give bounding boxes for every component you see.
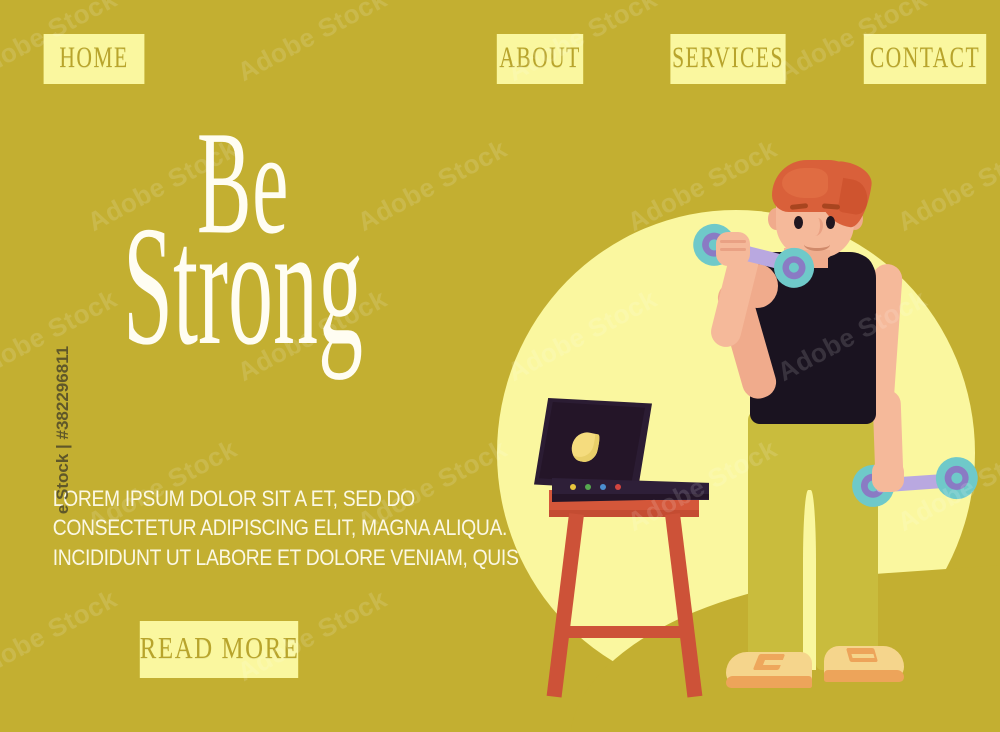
nav-item-about[interactable]: ABOUT: [497, 34, 583, 84]
indicator-dot-blue: [600, 484, 606, 490]
character-eye-right: [826, 216, 835, 229]
character-tank-strap-right: [836, 254, 874, 316]
laptop-illustration: [534, 398, 709, 506]
dumbbell-upper-disc-right: [770, 244, 818, 292]
nav-item-services[interactable]: SERVICES: [670, 34, 785, 84]
indicator-dot-green: [585, 484, 591, 490]
character-shoe-left-sole: [726, 676, 812, 688]
nav-item-home[interactable]: HOME: [44, 34, 145, 84]
character-shoe-right-sole: [824, 670, 904, 682]
stool-crossbar: [567, 626, 685, 638]
character-hair-fringe: [782, 168, 828, 198]
character-leg-gap: [803, 490, 816, 670]
character-shoe-right-stripe-2: [851, 654, 874, 658]
laptop-indicator-dots: [570, 484, 640, 492]
character-eye-left: [794, 216, 803, 229]
indicator-dot-yellow: [570, 484, 576, 490]
main-navigation: HOME ABOUT SERVICES CONTACT: [0, 0, 1000, 120]
character-leg-left: [748, 480, 806, 670]
character-hand-right: [872, 460, 904, 492]
dumbbell-lower: [850, 446, 980, 519]
character-shoe-left-stripe-2: [763, 660, 787, 665]
read-more-button[interactable]: READ MORE: [140, 621, 298, 678]
laptop-base-edge: [552, 494, 709, 502]
hero-paragraph-line-1: Lorem ipsum dolor sit a et, sed do: [53, 484, 406, 513]
hero-paragraph-line-3: incididunt ut labore et dolore veniam, q…: [53, 543, 406, 572]
stool-leg-left: [547, 513, 584, 697]
landing-page-canvas: HOME ABOUT SERVICES CONTACT Be Strong Lo…: [0, 0, 1000, 732]
character-fist-crease-2: [720, 248, 746, 251]
nav-item-contact[interactable]: CONTACT: [864, 34, 986, 84]
hero-paragraph-line-2: consectetur adipiscing elit, magna aliqu…: [53, 513, 406, 542]
indicator-dot-red: [615, 484, 621, 490]
hero-paragraph: Lorem ipsum dolor sit a et, sed do conse…: [53, 484, 406, 572]
character-illustration: [690, 160, 980, 700]
character-tank-hem: [750, 402, 876, 424]
dumbbell-lower-disc-right: [934, 456, 979, 501]
headline-line-2: Strong: [114, 214, 372, 358]
page-title: Be Strong: [28, 128, 458, 349]
character-fist-crease-1: [720, 240, 746, 243]
